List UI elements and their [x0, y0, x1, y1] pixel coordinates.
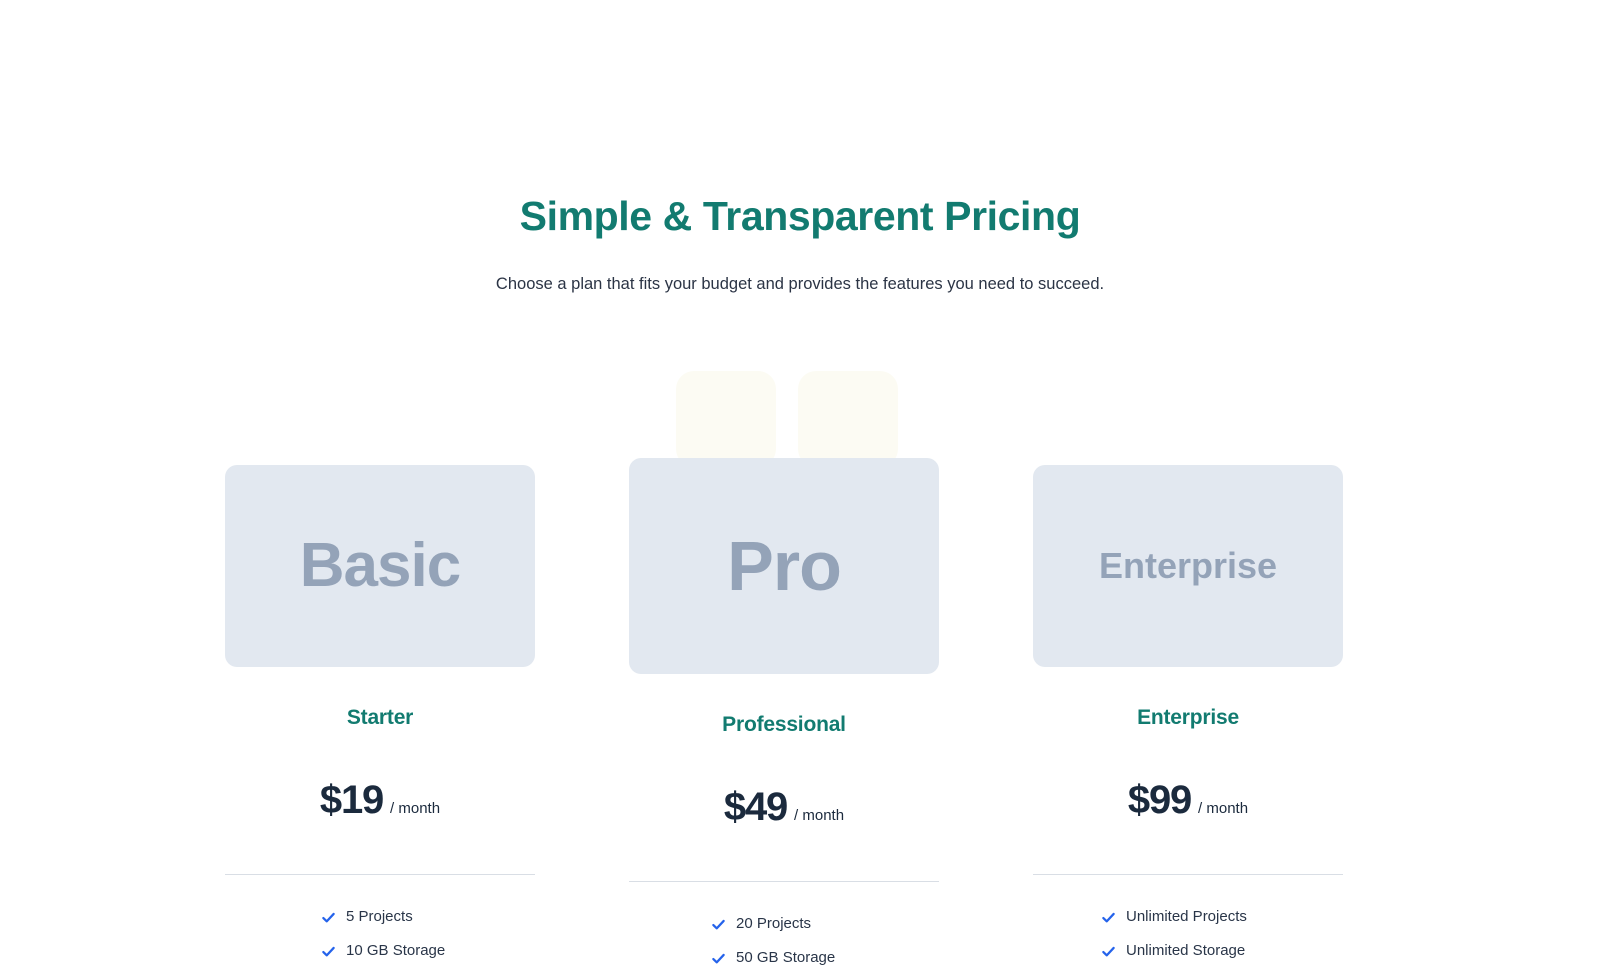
- plan-name-professional: Professional: [722, 674, 846, 739]
- feature-label: 50 GB Storage: [736, 947, 835, 969]
- plan-price-period: / month: [390, 799, 440, 819]
- plan-price-row: $49 / month: [724, 739, 844, 829]
- feature-label: Unlimited Projects: [1126, 906, 1247, 928]
- list-item: 20 Projects: [711, 913, 811, 935]
- plan-price-row: $19 / month: [320, 732, 440, 822]
- plan-feature-list-professional: 20 Projects 50 GB Storage: [629, 882, 939, 969]
- plan-price-amount: $49: [724, 785, 787, 829]
- plan-name-starter: Starter: [347, 667, 413, 732]
- check-icon: [321, 910, 336, 925]
- list-item: Unlimited Storage: [1101, 940, 1245, 962]
- plan-image-enterprise: Enterprise: [1033, 465, 1343, 667]
- plan-feature-list-starter: 5 Projects 10 GB Storage: [225, 875, 535, 962]
- pricing-page: Simple & Transparent Pricing Choose a pl…: [0, 0, 1600, 978]
- plan-image-starter: Basic: [225, 465, 535, 667]
- rounded-square-cream-icon: [676, 371, 776, 467]
- plan-image-label: Enterprise: [1099, 548, 1277, 584]
- plan-price-row: $99 / month: [1128, 732, 1248, 822]
- list-item: Unlimited Projects: [1101, 906, 1247, 928]
- plan-name-enterprise: Enterprise: [1137, 667, 1239, 732]
- feature-label: 20 Projects: [736, 913, 811, 935]
- check-icon: [711, 917, 726, 932]
- check-icon: [1101, 910, 1116, 925]
- list-item: 50 GB Storage: [711, 947, 835, 969]
- feature-label: 10 GB Storage: [346, 940, 445, 962]
- plan-image-label: Pro: [727, 531, 841, 601]
- rounded-square-cream-icon: [798, 371, 898, 467]
- feature-label: 5 Projects: [346, 906, 413, 928]
- pricing-card-starter[interactable]: Basic Starter $19 / month 5 Projects: [225, 465, 535, 962]
- decorative-shapes: [676, 371, 898, 467]
- pricing-card-enterprise[interactable]: Enterprise Enterprise $99 / month Unlimi…: [1033, 465, 1343, 962]
- plan-price-period: / month: [794, 806, 844, 826]
- pricing-header: Simple & Transparent Pricing Choose a pl…: [0, 190, 1600, 296]
- feature-label: Unlimited Storage: [1126, 940, 1245, 962]
- pricing-card-professional[interactable]: Pro Professional $49 / month 20 Projects: [629, 458, 939, 969]
- check-icon: [1101, 944, 1116, 959]
- check-icon: [321, 944, 336, 959]
- list-item: 5 Projects: [321, 906, 413, 928]
- pricing-plans-grid: Basic Starter $19 / month 5 Projects: [225, 465, 1343, 969]
- plan-image-professional: Pro: [629, 458, 939, 674]
- check-icon: [711, 951, 726, 966]
- page-title: Simple & Transparent Pricing: [0, 190, 1600, 242]
- plan-price-amount: $99: [1128, 778, 1191, 822]
- plan-price-amount: $19: [320, 778, 383, 822]
- plan-price-period: / month: [1198, 799, 1248, 819]
- plan-feature-list-enterprise: Unlimited Projects Unlimited Storage: [1033, 875, 1343, 962]
- list-item: 10 GB Storage: [321, 940, 445, 962]
- plan-image-label: Basic: [300, 535, 460, 597]
- page-subtitle: Choose a plan that fits your budget and …: [0, 242, 1600, 296]
